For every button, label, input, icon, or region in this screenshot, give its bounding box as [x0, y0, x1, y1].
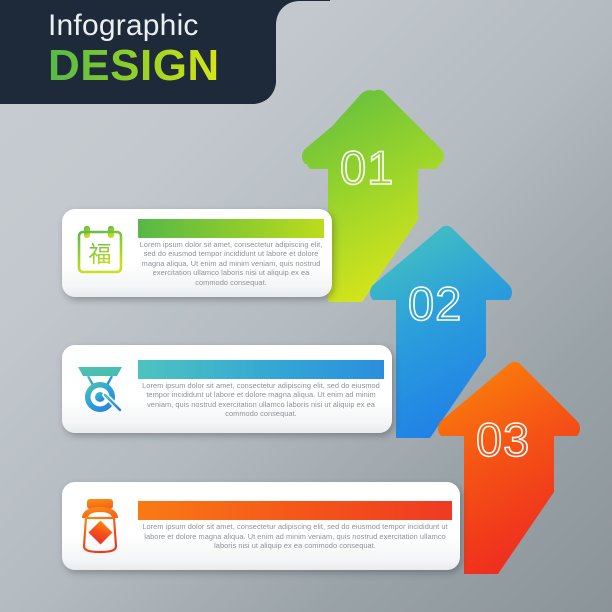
- info-card-2[interactable]: Lorem ipsum Lorem ipsum dolor sit amet, …: [62, 345, 392, 433]
- card-3-body: Lorem ipsum Lorem ipsum dolor sit amet, …: [138, 501, 460, 550]
- card-2-heading: Lorem ipsum: [138, 360, 384, 379]
- card-2-body: Lorem ipsum Lorem ipsum dolor sit amet, …: [138, 360, 392, 419]
- card-2-text: Lorem ipsum dolor sit amet, consectetur …: [138, 381, 384, 419]
- info-card-1[interactable]: 福 Lorem ipsum Lorem ipsum dolor sit amet…: [62, 209, 332, 297]
- card-3-icon-slot: [62, 482, 138, 570]
- card-2-icon-slot: [62, 345, 138, 433]
- header-banner: [0, 0, 330, 104]
- card-1-text: Lorem ipsum dolor sit amet, consectetur …: [138, 240, 324, 287]
- header-banner-shape: [0, 0, 330, 104]
- card-1-body: Lorem ipsum Lorem ipsum dolor sit amet, …: [138, 219, 332, 287]
- card-1-icon-slot: 福: [62, 209, 138, 297]
- svg-text:福: 福: [89, 242, 112, 268]
- info-card-3[interactable]: Lorem ipsum Lorem ipsum dolor sit amet, …: [62, 482, 460, 570]
- chinese-calendar-icon: 福: [74, 224, 126, 282]
- gong-icon: [72, 361, 128, 417]
- card-3-heading: Lorem ipsum: [138, 501, 452, 520]
- infographic-canvas: Infographic DESIGN 01: [0, 0, 612, 612]
- card-3-text: Lorem ipsum dolor sit amet, consectetur …: [138, 522, 452, 550]
- card-1-heading: Lorem ipsum: [138, 219, 324, 238]
- jam-jar-icon: [76, 496, 124, 556]
